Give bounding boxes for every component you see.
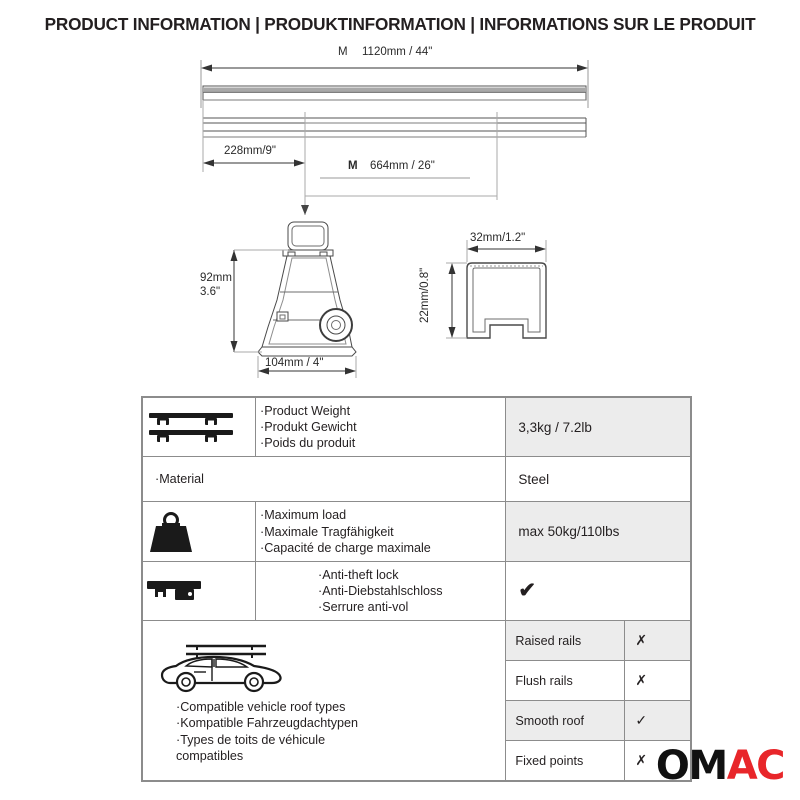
bar-length-prefix: M xyxy=(338,46,348,58)
spread-prefix: M xyxy=(348,160,358,172)
max-load-value: max 50kg/110lbs xyxy=(506,502,691,561)
car-with-roof-rack-icon xyxy=(148,637,294,695)
label-de: ·Kompatible Fahrzeugdachtypen xyxy=(176,715,500,731)
label-fr: ·Poids du produit xyxy=(260,435,499,451)
foot-height-line1: 92mm xyxy=(200,272,232,284)
roof-type-row: Raised rails ✗ xyxy=(506,621,690,661)
spread-value: 664mm / 26" xyxy=(370,160,435,172)
product-weight-labels: ·Product Weight ·Produkt Gewicht ·Poids … xyxy=(260,403,499,451)
roof-types-labels: ·Compatible vehicle roof types ·Kompatib… xyxy=(148,699,500,764)
product-weight-icon-cell xyxy=(143,398,256,457)
roof-type-row: Flush rails ✗ xyxy=(506,661,690,701)
logo-text-ac: AC xyxy=(727,743,784,789)
material-value: Steel xyxy=(506,457,691,502)
roof-types-label-cell: ·Compatible vehicle roof types ·Kompatib… xyxy=(143,621,506,781)
table-row: ·Maximum load ·Maximale Tragfähigkeit ·C… xyxy=(143,502,691,561)
max-load-label-cell: ·Maximum load ·Maximale Tragfähigkeit ·C… xyxy=(256,502,506,561)
label-de: ·Maximale Tragfähigkeit xyxy=(260,524,499,540)
table-row: ·Material Steel xyxy=(143,457,691,502)
roof-type-mark: ✗ xyxy=(625,621,690,661)
end-offset-value: 228mm/9" xyxy=(224,145,276,157)
table-row: ·Anti-theft lock ·Anti-Diebstahlschloss … xyxy=(143,561,691,620)
product-weight-value: 3,3kg / 7.2lb xyxy=(506,398,691,457)
weight-icon xyxy=(143,508,199,556)
label-de: ·Anti-Diebstahlschloss xyxy=(318,583,499,599)
roof-type-name: Flush rails xyxy=(506,661,625,701)
material-label-cell: ·Material xyxy=(143,457,506,502)
label-de: ·Produkt Gewicht xyxy=(260,419,499,435)
product-weight-label-cell: ·Product Weight ·Produkt Gewicht ·Poids … xyxy=(256,398,506,457)
technical-drawing xyxy=(0,0,800,390)
table-row: ·Product Weight ·Produkt Gewicht ·Poids … xyxy=(143,398,691,457)
max-load-labels: ·Maximum load ·Maximale Tragfähigkeit ·C… xyxy=(260,507,499,555)
profile-width-value: 32mm/1.2" xyxy=(470,232,525,244)
anti-theft-icon-cell xyxy=(143,561,256,620)
crossbar-pair-icon xyxy=(143,405,239,449)
anti-theft-lock-icon xyxy=(143,571,215,611)
label-en: ·Material xyxy=(155,471,499,487)
label-fr: ·Capacité de charge maximale xyxy=(260,540,499,556)
label-fr: ·Types de toits de véhicule compatibles xyxy=(176,732,386,765)
profile-height-value: 22mm/0.8" xyxy=(419,268,431,323)
bar-length-value: 1120mm / 44" xyxy=(362,46,432,58)
label-en: ·Compatible vehicle roof types xyxy=(176,699,500,715)
foot-height-line2: 3.6" xyxy=(200,286,220,298)
material-labels: ·Material xyxy=(147,462,499,496)
anti-theft-label-cell: ·Anti-theft lock ·Anti-Diebstahlschloss … xyxy=(256,561,506,620)
roof-type-mark: ✓ xyxy=(625,701,690,741)
specification-table: ·Product Weight ·Produkt Gewicht ·Poids … xyxy=(141,396,692,782)
anti-theft-labels: ·Anti-theft lock ·Anti-Diebstahlschloss … xyxy=(260,567,499,615)
roof-types-block: ·Compatible vehicle roof types ·Kompatib… xyxy=(144,631,504,770)
label-en: ·Maximum load xyxy=(260,507,499,523)
check-mark-icon: ✔ xyxy=(518,579,536,602)
logo-text-om: OM xyxy=(656,743,727,789)
product-info-sheet: PRODUCT INFORMATION | PRODUKTINFORMATION… xyxy=(0,0,800,800)
label-en: ·Product Weight xyxy=(260,403,499,419)
roof-type-name: Smooth roof xyxy=(506,701,625,741)
foot-width-value: 104mm / 4" xyxy=(265,357,323,369)
label-en: ·Anti-theft lock xyxy=(318,567,499,583)
roof-type-row: Smooth roof ✓ xyxy=(506,701,690,741)
roof-type-mark: ✗ xyxy=(625,661,690,701)
table-row: ·Compatible vehicle roof types ·Kompatib… xyxy=(143,621,691,781)
anti-theft-value: ✔ xyxy=(506,561,691,620)
label-fr: ·Serrure anti-vol xyxy=(318,599,499,615)
omac-logo: OMAC xyxy=(656,746,784,786)
max-load-icon-cell xyxy=(143,502,256,561)
roof-type-name: Raised rails xyxy=(506,621,625,661)
roof-type-name: Fixed points xyxy=(506,741,625,781)
